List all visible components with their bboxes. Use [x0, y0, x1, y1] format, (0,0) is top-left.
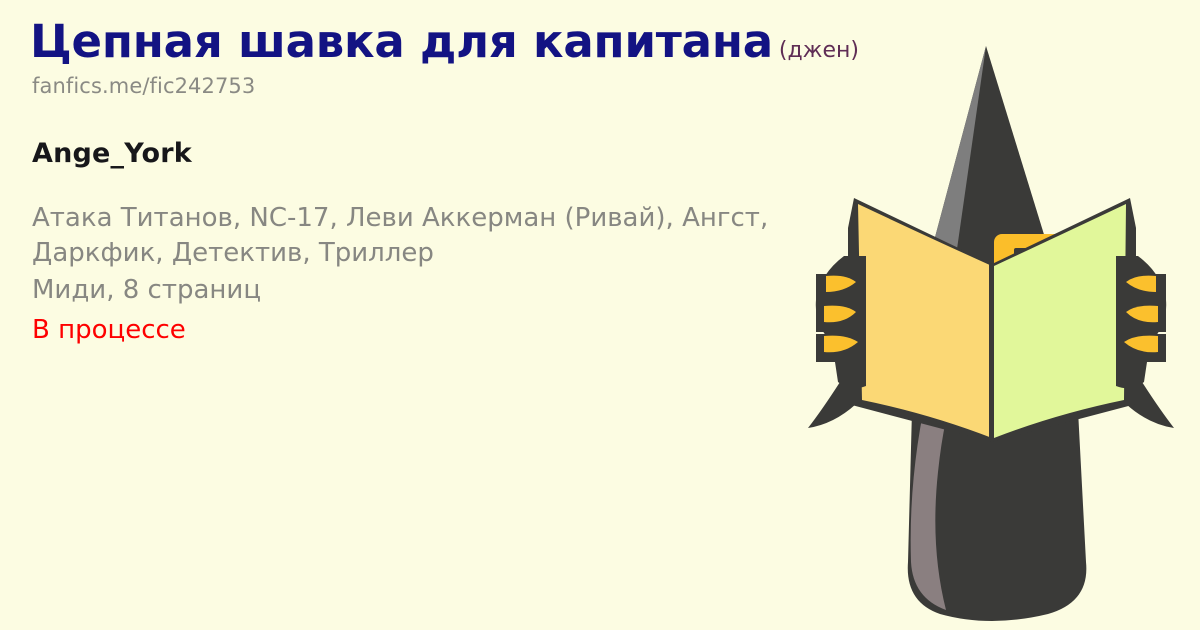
fic-url[interactable]: fanfics.me/fic242753: [32, 74, 830, 98]
author-name[interactable]: Ange_York: [32, 138, 830, 169]
text-column: Цепная шавка для капитана(джен) fanfics.…: [30, 18, 830, 350]
page-title: Цепная шавка для капитана(джен): [30, 18, 830, 66]
fic-title: Цепная шавка для капитана: [30, 15, 773, 68]
left-hand: [816, 256, 866, 388]
social-preview-card: Цепная шавка для капитана(джен) fanfics.…: [0, 0, 1200, 630]
fic-metadata: Атака Титанов, NC-17, Леви Аккерман (Рив…: [30, 201, 830, 348]
fic-status: В процессе: [32, 313, 830, 348]
right-hand: [1116, 256, 1166, 388]
fic-tags: Атака Титанов, NC-17, Леви Аккерман (Рив…: [32, 201, 792, 272]
witch-reading-book-illustration: [780, 42, 1200, 630]
fic-size: Миди, 8 страниц: [32, 273, 830, 308]
